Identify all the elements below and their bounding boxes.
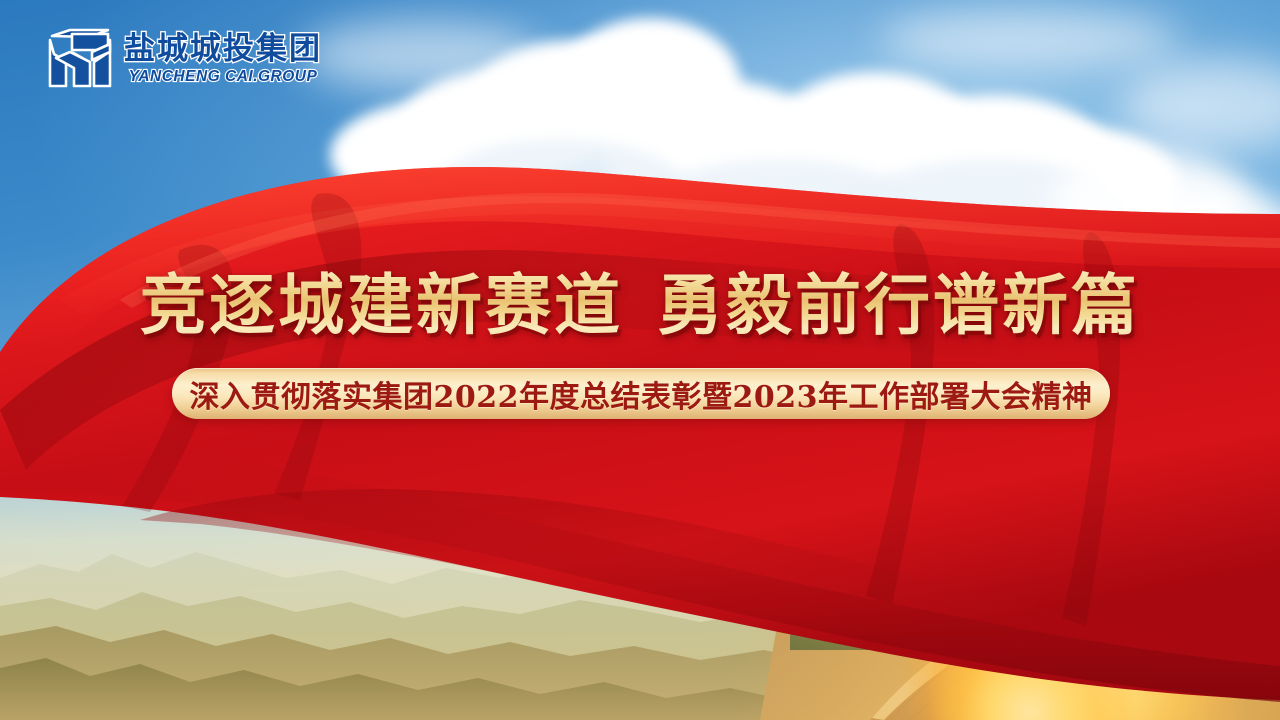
banner-subtitle-pill: 深入贯彻落实集团2022年度总结表彰暨2023年工作部署大会精神	[172, 368, 1110, 419]
brand-logo[interactable]: 盐城城投集团 YANCHENG CAI.GROUP	[46, 28, 322, 90]
brand-name-en: YANCHENG CAI.GROUP	[124, 69, 322, 85]
banner-title-block: 竞逐城建新赛道勇毅前行谱新篇	[0, 252, 1280, 348]
banner-subtitle-text: 深入贯彻落实集团2022年度总结表彰暨2023年工作部署大会精神	[190, 372, 1093, 416]
yancheng-cai-group-cube-logo-icon	[46, 28, 114, 90]
brand-name-cn: 盐城城投集团	[124, 34, 322, 65]
title-part-1: 竞逐城建新赛道	[140, 266, 623, 344]
title-part-2: 勇毅前行谱新篇	[657, 266, 1140, 344]
banner-main-title: 竞逐城建新赛道勇毅前行谱新篇	[140, 252, 1140, 348]
red-ribbon	[0, 0, 1280, 720]
poster-canvas: 盐城城投集团 YANCHENG CAI.GROUP 竞逐城建新赛道勇毅前行谱新篇…	[0, 0, 1280, 720]
brand-logo-text: 盐城城投集团 YANCHENG CAI.GROUP	[124, 34, 322, 85]
